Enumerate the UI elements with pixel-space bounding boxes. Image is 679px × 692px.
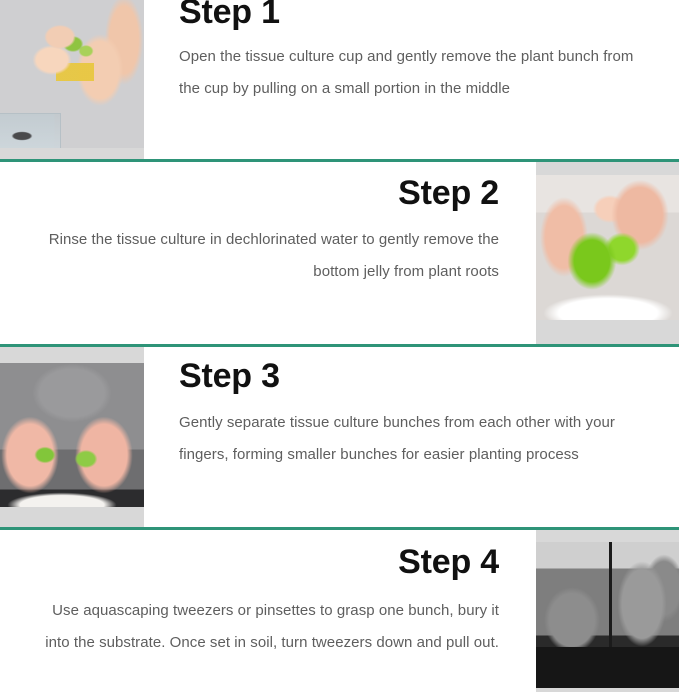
step-4-body: Use aquascaping tweezers or pinsettes to… [36,595,499,660]
step-1-photo-image [0,0,144,148]
step-3-photo [0,347,144,527]
step-1-text-column: Step 1 Open the tissue culture cup and g… [144,0,679,159]
step-2-text-column: Step 2 Rinse the tissue culture in dechl… [0,162,536,344]
step-3-text-column: Step 3 Gently separate tissue culture bu… [144,347,679,527]
step-1-body: Open the tissue culture cup and gently r… [179,41,643,106]
step-3-title: Step 3 [179,359,643,393]
step-row-3: Step 3 Gently separate tissue culture bu… [0,347,679,527]
step-2-title: Step 2 [36,176,499,210]
step-2-photo-image [536,175,679,320]
tissue-culture-planting-guide: Step 1 Open the tissue culture cup and g… [0,0,679,683]
step-row-2: Step 2 Rinse the tissue culture in dechl… [0,162,679,344]
step-3-photo-image [0,363,144,507]
step-4-text-column: Step 4 Use aquascaping tweezers or pinse… [0,530,536,692]
step-row-1: Step 1 Open the tissue culture cup and g… [0,0,679,159]
step-4-photo-image [536,542,679,688]
step-4-title: Step 4 [36,545,499,579]
step-row-4: Step 4 Use aquascaping tweezers or pinse… [0,530,679,692]
step-2-body: Rinse the tissue culture in dechlorinate… [36,224,499,289]
step-3-body: Gently separate tissue culture bunches f… [179,407,643,472]
step-2-photo [536,162,679,344]
step-1-title: Step 1 [179,0,643,29]
step-1-photo [0,0,144,159]
step-4-photo [536,530,679,692]
